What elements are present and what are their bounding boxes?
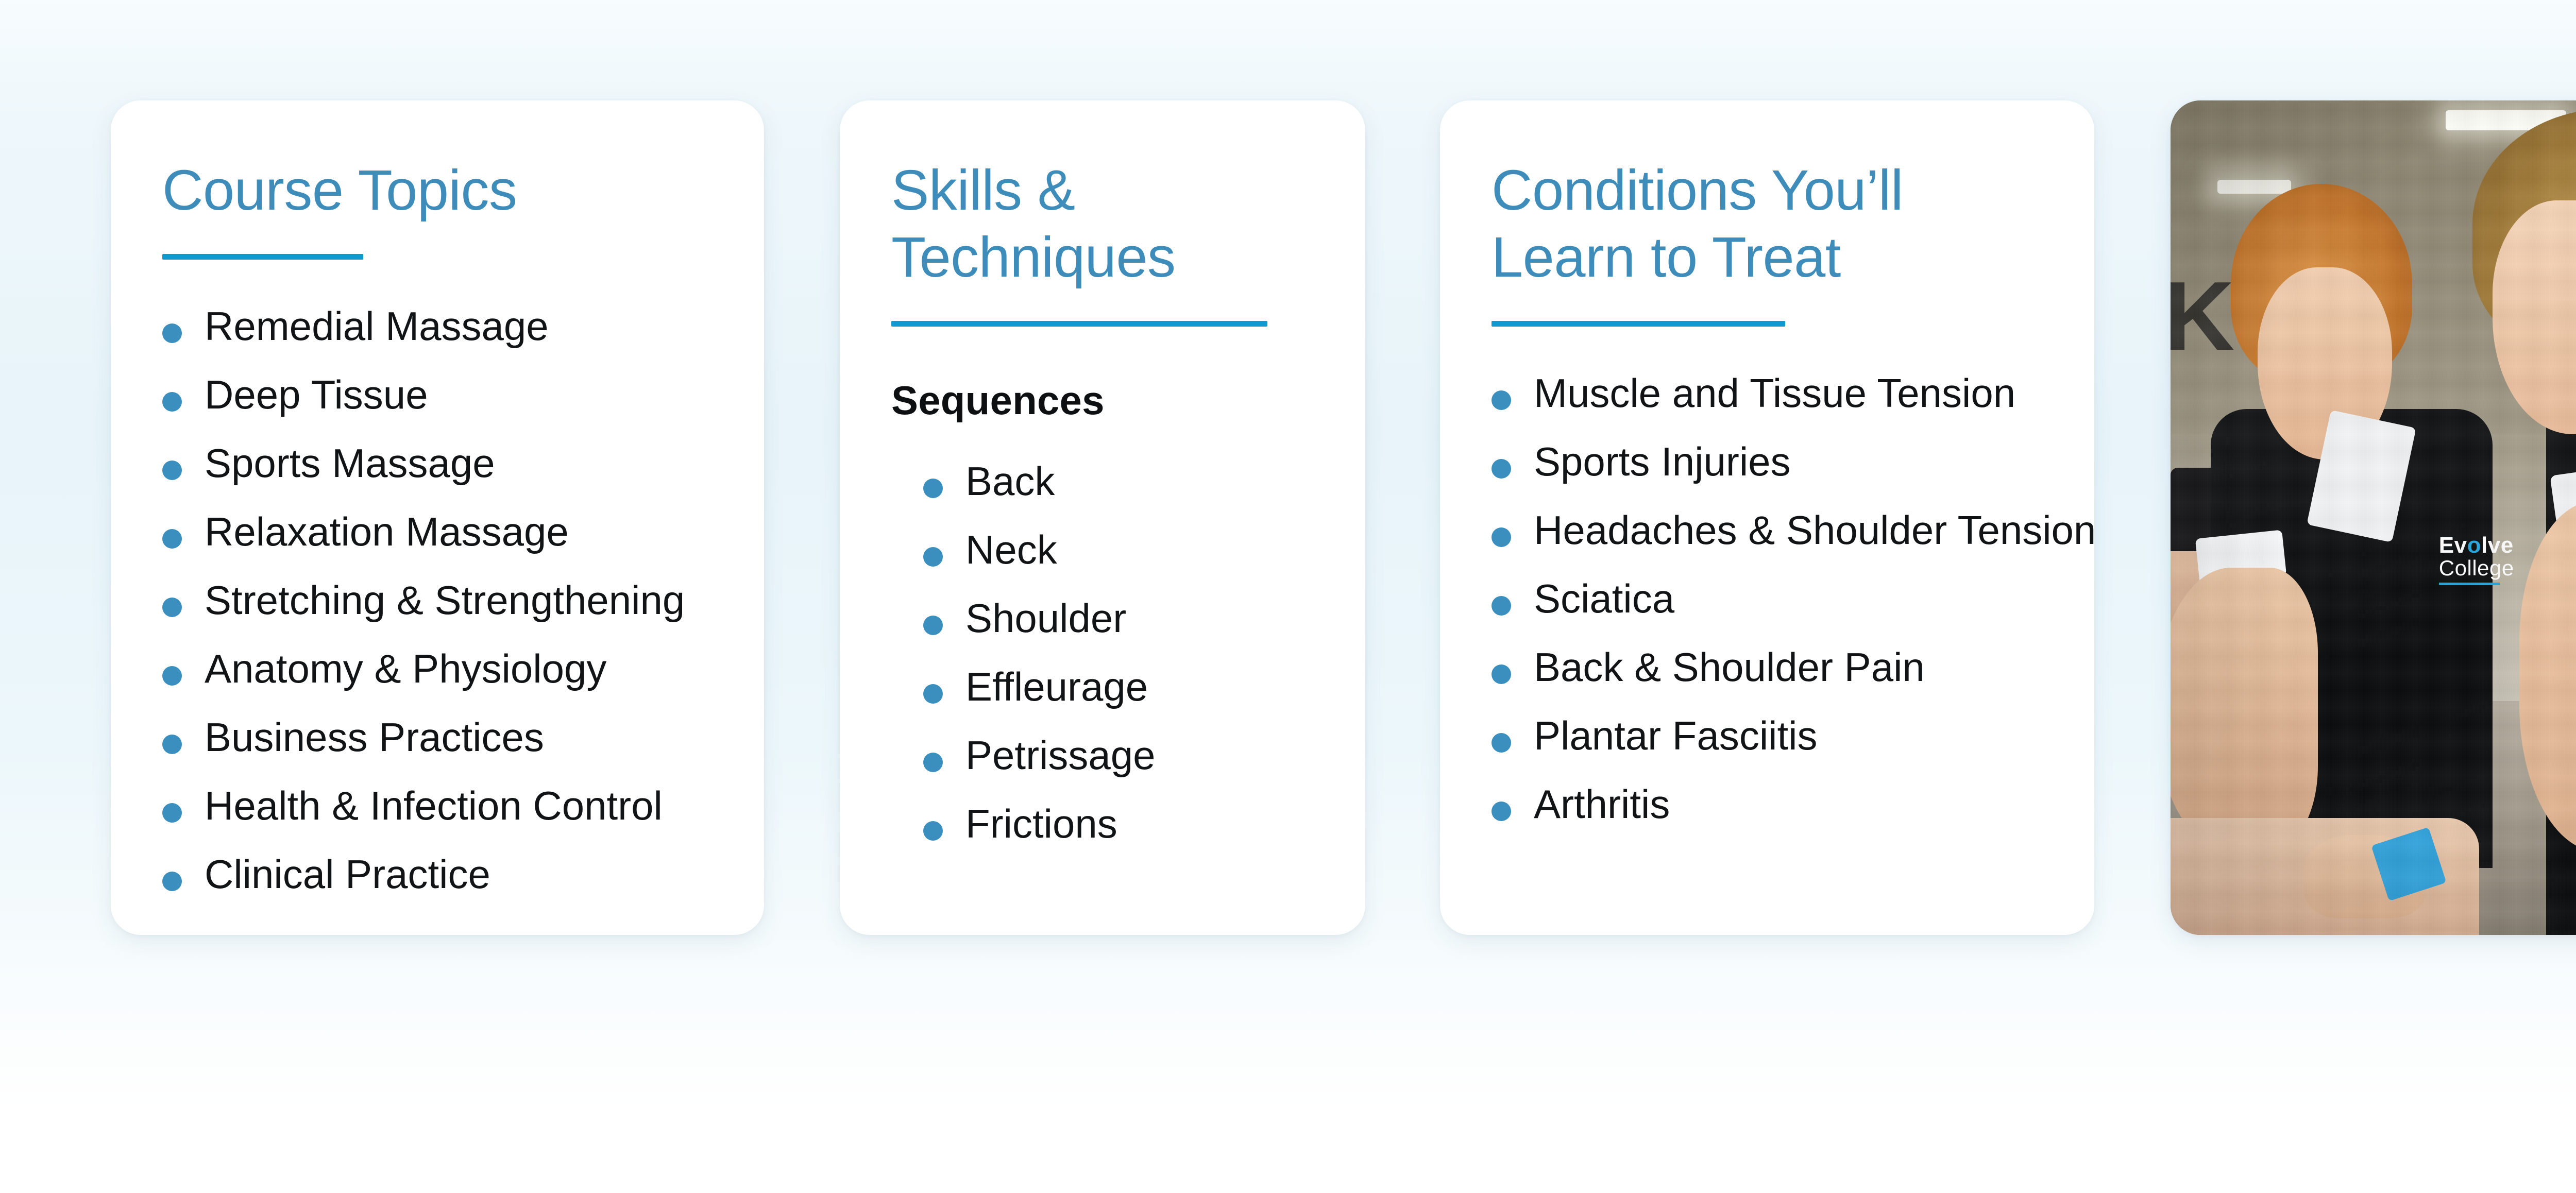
bullet-icon [1492,802,1511,821]
logo-line-two: College [2439,557,2514,580]
heading-underline [1492,321,1785,327]
logo-ev: Ev [2439,533,2467,558]
conditions-list: Muscle and Tissue Tension Sports Injurie… [1492,373,2043,824]
bullet-icon [923,753,943,772]
list-item: Frictions [923,804,1314,844]
ceiling-light [2217,180,2291,194]
list-item-label: Effleurage [965,667,1148,707]
list-item: Relaxation Massage [162,512,713,552]
bullet-icon [1492,596,1511,616]
list-item-label: Frictions [965,804,1117,844]
list-item-label: Plantar Fasciitis [1534,715,1818,756]
bullet-icon [1492,459,1511,479]
list-item: Sports Injuries [1492,441,2043,482]
list-item-label: Deep Tissue [205,374,428,415]
bullet-icon [923,684,943,704]
bullet-icon [923,821,943,841]
list-item: Health & Infection Control [162,786,713,826]
list-item: Stretching & Strengthening [162,580,713,620]
list-item: Shoulder [923,598,1314,638]
list-item: Back & Shoulder Pain [1492,647,2043,687]
list-item: Headaches & Shoulder Tension [1492,510,2043,550]
bullet-icon [162,872,182,891]
card-skills-techniques-body: Skills & Techniques Sequences Back Neck … [840,100,1365,935]
logo-line-one: Evolve [2439,534,2514,557]
list-item-label: Relaxation Massage [205,512,569,552]
list-item-label: Stretching & Strengthening [205,580,685,620]
card-course-topics: Course Topics Remedial Massage Deep Tiss… [111,100,764,935]
bullet-icon [162,735,182,754]
bullet-icon [162,598,182,617]
bullet-icon [923,547,943,567]
bullet-icon [162,803,182,823]
card-course-topics-body: Course Topics Remedial Massage Deep Tiss… [111,100,764,935]
logo-underline [2439,583,2500,585]
list-item: Remedial Massage [162,306,713,346]
bullet-icon [1492,527,1511,547]
list-item-label: Back [965,461,1055,501]
list-item-label: Health & Infection Control [205,786,663,826]
list-item-label: Neck [965,530,1057,570]
card-skills-techniques-title: Skills & Techniques [891,157,1314,291]
list-item-label: Shoulder [965,598,1126,638]
heading-underline [891,321,1267,327]
bullet-icon [162,323,182,343]
logo-lve: lve [2481,533,2514,558]
bullet-icon [1492,390,1511,410]
sequences-list: Back Neck Shoulder Effleurage Petrissage [891,461,1314,844]
bullet-icon [162,529,182,549]
list-item: Sports Massage [162,443,713,483]
cards-board: Course Topics Remedial Massage Deep Tiss… [0,0,2576,1193]
list-item: Sciatica [1492,578,2043,619]
list-item-label: Remedial Massage [205,306,549,346]
list-item-label: Business Practices [205,717,544,757]
list-item-label: Arthritis [1534,784,1670,824]
list-item: Deep Tissue [162,374,713,415]
bullet-icon [923,479,943,498]
massage-class-photo: K Evolve College [2171,100,2576,935]
evolve-college-logo: Evolve College [2439,534,2514,585]
card-conditions-to-treat-title: Conditions You’ll Learn to Treat [1492,157,2043,291]
student-male-arm [2171,568,2318,851]
photo-scene: K Evolve College [2171,100,2576,935]
list-item-label: Headaches & Shoulder Tension [1534,510,2094,550]
card-conditions-to-treat-body: Conditions You’ll Learn to Treat Muscle … [1440,100,2094,935]
bullet-icon [1492,733,1511,753]
list-item: Effleurage [923,667,1314,707]
bullet-icon [162,461,182,480]
sequences-subheading: Sequences [891,377,1314,424]
list-item: Business Practices [162,717,713,757]
card-conditions-to-treat: Conditions You’ll Learn to Treat Muscle … [1440,100,2094,935]
list-item-label: Sports Injuries [1534,441,1791,482]
bullet-icon [923,616,943,635]
heading-underline [162,254,363,260]
list-item: Clinical Practice [162,854,713,894]
card-skills-techniques: Skills & Techniques Sequences Back Neck … [840,100,1365,935]
list-item: Petrissage [923,735,1314,775]
list-item-label: Clinical Practice [205,854,490,894]
list-item-label: Petrissage [965,735,1156,775]
list-item: Arthritis [1492,784,2043,824]
bullet-icon [162,666,182,686]
list-item-label: Anatomy & Physiology [205,649,606,689]
logo-accent-o: o [2467,533,2481,558]
bullet-icon [162,392,182,412]
course-topics-list: Remedial Massage Deep Tissue Sports Mass… [162,306,713,894]
bullet-icon [1492,664,1511,684]
card-course-topics-title: Course Topics [162,157,713,224]
list-item-label: Sports Massage [205,443,495,483]
list-item-label: Muscle and Tissue Tension [1534,373,2015,413]
list-item-label: Back & Shoulder Pain [1534,647,1925,687]
list-item: Plantar Fasciitis [1492,715,2043,756]
list-item: Anatomy & Physiology [162,649,713,689]
list-item-label: Sciatica [1534,578,1674,619]
list-item: Muscle and Tissue Tension [1492,373,2043,413]
list-item: Back [923,461,1314,501]
list-item: Neck [923,530,1314,570]
